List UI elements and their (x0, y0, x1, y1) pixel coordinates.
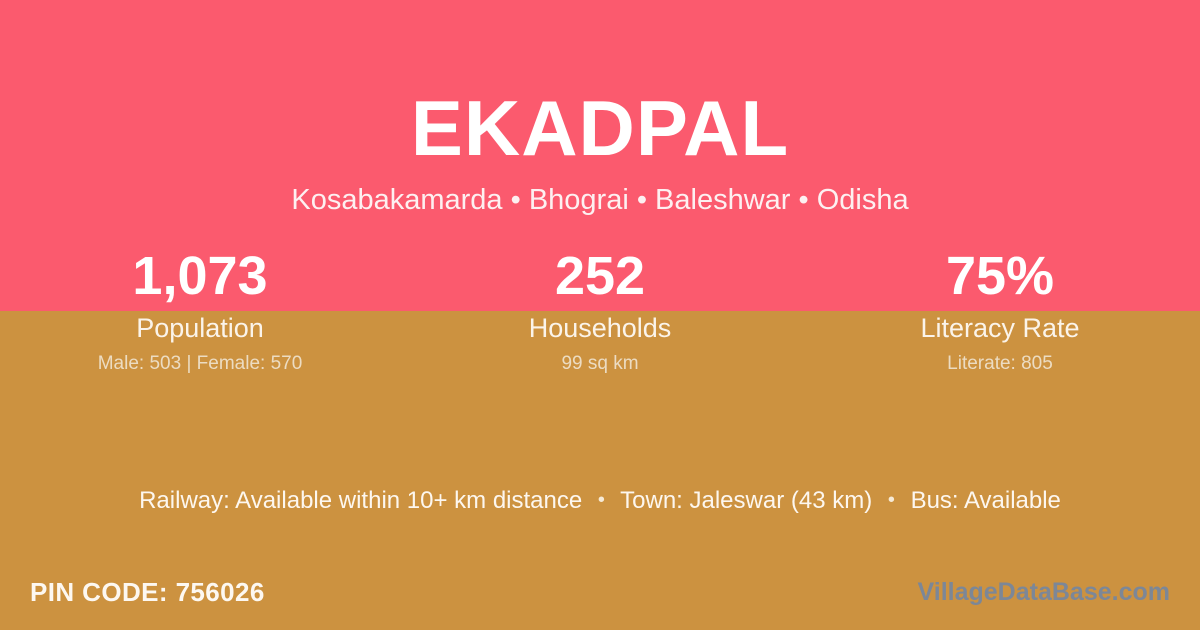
connectivity-info-line: Railway: Available within 10+ km distanc… (0, 484, 1200, 517)
stat-population-value: 1,073 (0, 244, 400, 308)
stat-households-detail: 99 sq km (400, 352, 800, 376)
stat-literacy-value: 75% (800, 244, 1200, 308)
stat-population-detail: Male: 503 | Female: 570 (0, 352, 400, 376)
card-footer: PIN CODE: 756026 VillageDataBase.com (0, 570, 1200, 614)
breadcrumb: Kosabakamarda • Bhograi • Baleshwar • Od… (0, 182, 1200, 218)
info-separator-bullet-icon: • (879, 484, 904, 516)
stat-literacy: 75% Literacy Rate Literate: 805 (800, 244, 1200, 376)
info-town: Town: Jaleswar (43 km) (620, 487, 872, 514)
pin-code: PIN CODE: 756026 (30, 570, 265, 614)
stat-households-label: Households (400, 312, 800, 345)
village-info-card: EKADPAL Kosabakamarda • Bhograi • Balesh… (0, 0, 1200, 630)
stat-population-label: Population (0, 312, 400, 345)
info-bus: Bus: Available (911, 487, 1061, 514)
stat-population: 1,073 Population Male: 503 | Female: 570 (0, 244, 400, 376)
stat-literacy-label: Literacy Rate (800, 312, 1200, 345)
page-title: EKADPAL (0, 82, 1200, 174)
site-brand: VillageDataBase.com (918, 570, 1170, 614)
info-separator-bullet-icon: • (589, 484, 614, 516)
stat-households: 252 Households 99 sq km (400, 244, 800, 376)
stats-row: 1,073 Population Male: 503 | Female: 570… (0, 244, 1200, 376)
info-railway: Railway: Available within 10+ km distanc… (139, 487, 582, 514)
stat-households-value: 252 (400, 244, 800, 308)
stat-literacy-detail: Literate: 805 (800, 352, 1200, 376)
